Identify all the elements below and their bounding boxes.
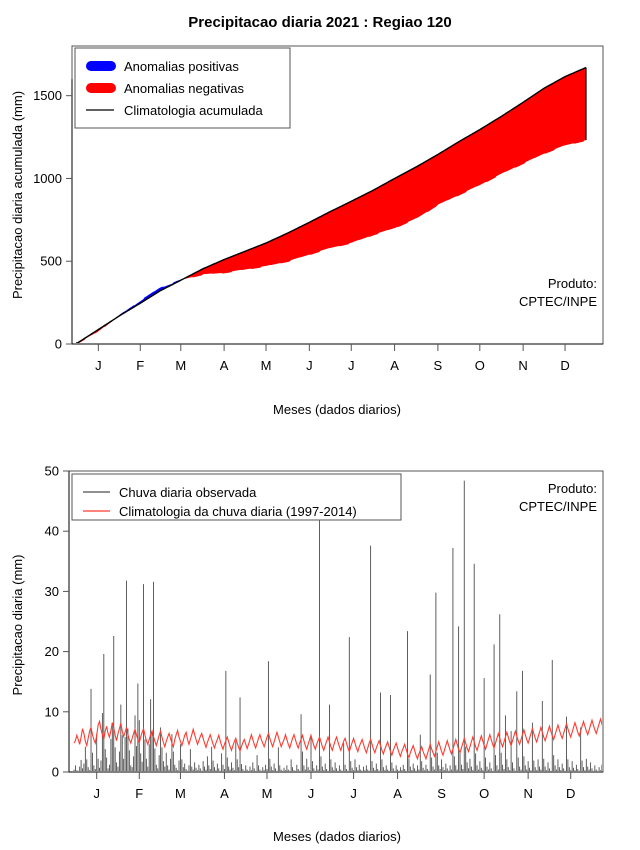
top-x-tick-label: O (475, 358, 485, 373)
bottom-x-tick-label: A (393, 786, 402, 801)
top-x-axis-title: Meses (dados diarios) (273, 402, 401, 417)
bottom-x-tick-label: J (350, 786, 357, 801)
top-x-tick-label: N (518, 358, 527, 373)
top-x-tick-label: F (136, 358, 144, 373)
produto-label-bottom-line2: CPTEC/INPE (519, 499, 597, 514)
top-x-tick-label: J (306, 358, 313, 373)
legend-bar-swatch (86, 83, 116, 93)
top-x-tick-label: D (560, 358, 569, 373)
chart-page: Precipitacao diaria 2021 : Regiao 120 05… (0, 0, 640, 850)
top-x-tick-label: M (261, 358, 272, 373)
produto-label-top-line2: CPTEC/INPE (519, 294, 597, 309)
top-x-tick-label: A (220, 358, 229, 373)
bottom-x-axis-title: Meses (dados diarios) (273, 829, 401, 844)
top-x-tick-label: M (175, 358, 186, 373)
bottom-x-tick-label: D (566, 786, 575, 801)
bottom-legend[interactable]: Chuva diaria observadaClimatologia da ch… (72, 474, 401, 520)
bottom-legend-label: Climatologia da chuva diaria (1997-2014) (119, 504, 357, 519)
bottom-y-tick-label: 20 (45, 644, 59, 659)
bottom-legend-item[interactable]: Climatologia da chuva diaria (1997-2014) (83, 504, 357, 519)
bottom-y-axis-title: Precipitacao diaria (mm) (10, 555, 25, 696)
bottom-x-tick-label: J (308, 786, 315, 801)
produto-label-bottom-line1: Produto: (548, 481, 597, 496)
bottom-x-tick-label: J (93, 786, 100, 801)
bottom-x-tick-label: M (175, 786, 186, 801)
top-y-tick-label: 0 (55, 337, 62, 352)
legend-bar-swatch (86, 61, 116, 71)
bottom-x-tick-label: O (479, 786, 489, 801)
top-legend[interactable]: Anomalias positivasAnomalias negativasCl… (75, 48, 290, 128)
bottom-legend-label: Chuva diaria observada (119, 485, 257, 500)
bottom-y-tick-label: 50 (45, 464, 59, 479)
bottom-y-tick-label: 10 (45, 704, 59, 719)
top-legend-label: Anomalias negativas (124, 81, 244, 96)
bottom-x-tick-label: S (437, 786, 446, 801)
top-legend-label: Anomalias positivas (124, 59, 239, 74)
page-title: Precipitacao diaria 2021 : Regiao 120 (188, 14, 451, 31)
precipitation-figure: Precipitacao diaria 2021 : Regiao 120 05… (0, 0, 640, 850)
bottom-y-tick-label: 40 (45, 524, 59, 539)
bottom-x-tick-label: M (262, 786, 273, 801)
top-x-tick-label: A (390, 358, 399, 373)
top-y-tick-label: 500 (40, 254, 62, 269)
top-legend-label: Climatologia acumulada (124, 103, 264, 118)
top-y-tick-label: 1000 (33, 171, 62, 186)
top-y-tick-label: 1500 (33, 88, 62, 103)
top-x-tick-label: J (348, 358, 355, 373)
bottom-x-tick-label: N (523, 786, 532, 801)
bottom-y-tick-label: 0 (52, 765, 59, 780)
top-y-axis-title: Precipitacao diaria acumulada (mm) (10, 91, 25, 299)
bottom-x-tick-label: F (135, 786, 143, 801)
top-x-tick-label: J (95, 358, 102, 373)
produto-label-top-line1: Produto: (548, 276, 597, 291)
top-x-tick-label: S (434, 358, 443, 373)
bottom-x-tick-label: A (220, 786, 229, 801)
bottom-y-tick-label: 30 (45, 584, 59, 599)
